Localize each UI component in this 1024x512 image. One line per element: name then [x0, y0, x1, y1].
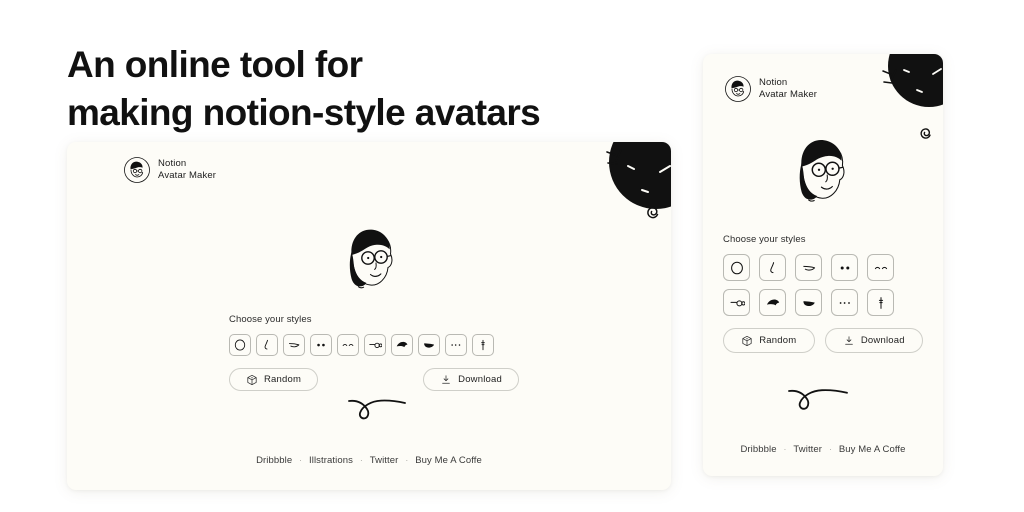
style-option-face[interactable] [723, 254, 750, 281]
random-button-label: Random [759, 335, 796, 346]
style-option-eyes[interactable] [831, 254, 858, 281]
avatar-illustration-icon [781, 132, 865, 216]
style-option-glasses[interactable] [723, 289, 750, 316]
footer-separator: · [360, 456, 363, 465]
loop-squiggle-icon [787, 379, 849, 417]
footer-link-buy-me-a-coffe[interactable]: Buy Me A Coffe [415, 455, 482, 466]
picker-label: Choose your styles [229, 314, 519, 325]
style-option-list [229, 334, 519, 356]
avatar-illustration-icon [332, 222, 412, 302]
footer-separator: · [829, 445, 832, 454]
download-icon [843, 335, 855, 347]
action-bar-mobile: Random Download [723, 328, 923, 353]
style-option-accessory[interactable] [867, 289, 894, 316]
footer-link-buy-me-a-coffe[interactable]: Buy Me A Coffe [839, 444, 906, 455]
brand-text: Notion Avatar Maker [759, 77, 817, 101]
footer-link-dribbble[interactable]: Dribbble [256, 455, 292, 466]
desktop-preview-card: Notion Avatar Maker [67, 142, 671, 490]
page-root: An online tool for making notion-style a… [0, 0, 1024, 512]
brand-text: Notion Avatar Maker [158, 158, 216, 182]
style-option-nose[interactable] [256, 334, 278, 356]
avatar-face-icon [124, 157, 150, 183]
download-button[interactable]: Download [423, 368, 519, 391]
style-option-hair[interactable] [759, 289, 786, 316]
footer-separator: · [299, 456, 302, 465]
style-option-mouth[interactable] [795, 254, 822, 281]
spiral-doodle-icon [915, 122, 937, 144]
style-option-eyes[interactable] [310, 334, 332, 356]
speed-lines-icon [881, 68, 901, 92]
footer-link-twitter[interactable]: Twitter [370, 455, 399, 466]
brand-name: Notion [759, 77, 817, 89]
style-option-accessory[interactable] [472, 334, 494, 356]
picker-label: Choose your styles [723, 234, 923, 245]
footer-mobile: Dribbble · Twitter · Buy Me A Coffe [703, 444, 943, 455]
style-option-nose[interactable] [759, 254, 786, 281]
style-option-list [723, 254, 917, 316]
brand-product: Avatar Maker [759, 89, 817, 101]
footer-desktop: Dribbble · Illstrations · Twitter · Buy … [67, 455, 671, 466]
style-picker-desktop: Choose your styles [229, 314, 519, 356]
footer-separator: · [405, 456, 408, 465]
download-button-label: Download [458, 374, 502, 385]
style-option-details[interactable] [445, 334, 467, 356]
random-button-label: Random [264, 374, 301, 385]
style-option-details[interactable] [831, 289, 858, 316]
style-option-eyebrows[interactable] [867, 254, 894, 281]
brand-product: Avatar Maker [158, 170, 216, 182]
style-picker-mobile: Choose your styles [723, 234, 923, 316]
download-icon [440, 374, 452, 386]
mobile-preview-card: Notion Avatar Maker Choose [703, 54, 943, 476]
brand: Notion Avatar Maker [124, 157, 216, 183]
style-option-mouth[interactable] [283, 334, 305, 356]
footer-separator: · [784, 445, 787, 454]
style-option-beard[interactable] [418, 334, 440, 356]
style-option-face[interactable] [229, 334, 251, 356]
dice-cube-icon [741, 335, 753, 347]
footer-link-dribbble[interactable]: Dribbble [740, 444, 776, 455]
random-button[interactable]: Random [229, 368, 318, 391]
style-option-eyebrows[interactable] [337, 334, 359, 356]
spiral-doodle-icon [641, 200, 665, 224]
dice-cube-icon [246, 374, 258, 386]
style-option-hair[interactable] [391, 334, 413, 356]
download-button-label: Download [861, 335, 905, 346]
brand-name: Notion [158, 158, 216, 170]
action-bar-desktop: Random Download [229, 368, 519, 391]
download-button[interactable]: Download [825, 328, 923, 353]
random-button[interactable]: Random [723, 328, 815, 353]
style-option-beard[interactable] [795, 289, 822, 316]
style-option-glasses[interactable] [364, 334, 386, 356]
page-title: An online tool for making notion-style a… [67, 41, 687, 137]
speed-lines-icon [605, 148, 627, 174]
footer-link-illstrations[interactable]: Illstrations [309, 455, 353, 466]
brand: Notion Avatar Maker [725, 76, 817, 102]
loop-squiggle-icon [347, 390, 407, 426]
avatar-face-icon [725, 76, 751, 102]
footer-link-twitter[interactable]: Twitter [793, 444, 822, 455]
